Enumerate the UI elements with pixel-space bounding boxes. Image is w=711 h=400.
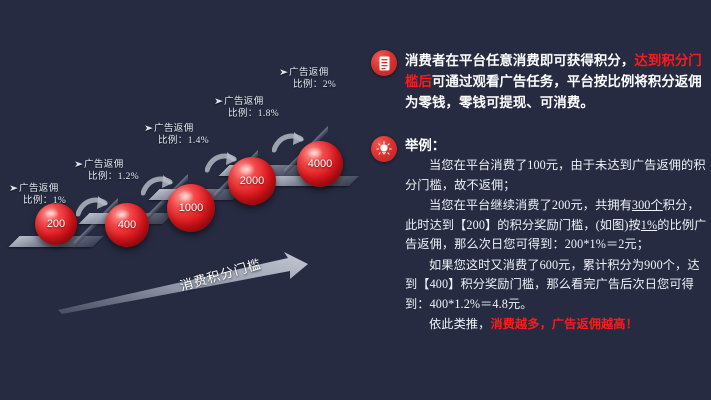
step-callout-line1: 广告返佣	[289, 68, 329, 78]
step-ball-label: 400	[118, 219, 136, 231]
example-p4-highlight: 消费越多，广告返佣越高！	[490, 317, 637, 331]
step-callout-line2: 比例：1%	[10, 195, 66, 207]
description-part2: 可通过观看广告任务，平台按比例将积分返佣为零钱，零钱可提现、可消费。	[405, 74, 702, 110]
example-paragraph-1: 当您在平台消费了100元，由于未达到广告返佣的积分门槛，故不返佣；	[405, 156, 711, 195]
description-block: 消费者在平台任意消费即可获得积分，达到积分门槛后可通过观看广告任务，平台按比例将…	[371, 50, 711, 113]
step-callout-line1: 广告返佣	[154, 124, 194, 134]
step-arrow-1	[76, 194, 110, 218]
arrow-bullet-icon: ➤	[74, 158, 85, 170]
arrow-bullet-icon: ➤	[279, 66, 290, 78]
step-callout-4: ➤广告返佣 比例：1.8%	[215, 95, 279, 120]
step-arrow-3	[205, 150, 239, 174]
step-ball-label: 200	[47, 218, 65, 230]
step-callout-line1: 广告返佣	[224, 97, 264, 107]
example-title: 举例：	[405, 136, 711, 155]
example-p4-a: 依此类推，	[429, 317, 490, 331]
step-callout-line2: 比例：1.2%	[75, 171, 139, 183]
step-callout-line2: 比例：2%	[280, 79, 336, 91]
step-ball-label: 2000	[240, 175, 264, 187]
example-paragraph-3: 如果您这时又消费了600元，累计积分为900个，达到【400】积分奖励门槛，那么…	[405, 256, 711, 315]
staircase-infographic: 200 400 1000 2000 4000	[0, 0, 362, 400]
explanation-panel: 消费者在平台任意消费即可获得积分，达到积分门槛后可通过观看广告任务，平台按比例将…	[362, 0, 711, 400]
description-text-wrap: 消费者在平台任意消费即可获得积分，达到积分门槛后可通过观看广告任务，平台按比例将…	[405, 50, 711, 113]
example-p2-underline-2: 1%	[641, 218, 657, 232]
step-arrow-2	[141, 173, 175, 197]
description-text: 消费者在平台任意消费即可获得积分，达到积分门槛后可通过观看广告任务，平台按比例将…	[405, 50, 711, 113]
step-callout-line2: 比例：1.4%	[145, 135, 209, 147]
step-ball-1: 200	[35, 203, 77, 245]
step-callout-line1: 广告返佣	[19, 184, 59, 194]
ball-highlight	[239, 163, 255, 175]
description-part1: 消费者在平台任意消费即可获得积分，	[405, 53, 634, 68]
ball-highlight	[178, 190, 194, 202]
arrow-bullet-icon: ➤	[214, 95, 225, 107]
lightbulb-icon	[371, 136, 397, 162]
step-arrow-4	[272, 130, 306, 154]
slide-root: 200 400 1000 2000 4000	[0, 0, 711, 400]
example-paragraph-4: 依此类推，消费越多，广告返佣越高！	[405, 315, 711, 335]
example-text-wrap: 举例： 当您在平台消费了100元，由于未达到广告返佣的积分门槛，故不返佣； 当您…	[405, 136, 711, 335]
example-p2-underline-1: 300个	[632, 198, 663, 212]
step-callout-5: ➤广告返佣 比例：2%	[280, 66, 336, 91]
step-callout-line1: 广告返佣	[84, 160, 124, 170]
step-callout-2: ➤广告返佣 比例：1.2%	[75, 158, 139, 183]
step-ball-2: 400	[105, 203, 149, 247]
step-ball-label: 1000	[179, 202, 203, 214]
example-p2-a: 当您在平台继续消费了200元，共拥有	[429, 198, 632, 212]
step-callout-line2: 比例：1.8%	[215, 108, 279, 120]
arrow-bullet-icon: ➤	[9, 182, 20, 194]
arrow-bullet-icon: ➤	[144, 122, 155, 134]
step-callout-1: ➤广告返佣 比例：1%	[10, 182, 66, 207]
step-ball-label: 4000	[308, 158, 332, 170]
step-callout-3: ➤广告返佣 比例：1.4%	[145, 122, 209, 147]
example-paragraph-2: 当您在平台继续消费了200元，共拥有300个积分，此时达到【200】的积分奖励门…	[405, 196, 711, 255]
example-block: 举例： 当您在平台消费了100元，由于未达到广告返佣的积分门槛，故不返佣； 当您…	[371, 136, 711, 335]
document-icon	[371, 50, 397, 76]
